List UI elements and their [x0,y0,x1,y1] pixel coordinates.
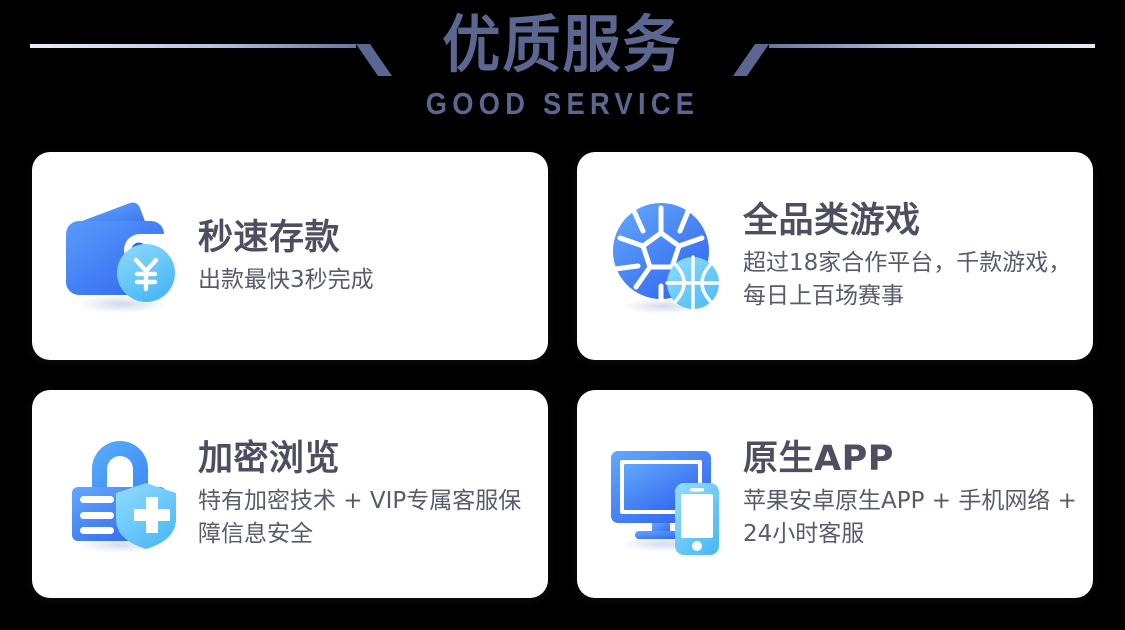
page-subtitle: GOOD SERVICE [68,81,1058,121]
card-description: 出款最快3秒完成 [198,264,528,297]
feature-card-encryption[interactable]: 加密浏览 特有加密技术 + VIP专属客服保障信息安全 [32,390,548,598]
card-heading: 加密浏览 [198,437,534,481]
soccer-basketball-icon [603,193,729,319]
lock-shield-icon [58,431,184,557]
header-title-block: 优质服务 GOOD SERVICE [0,0,1125,121]
card-heading: 原生APP [743,437,1079,481]
card-text-block: 原生APP 苹果安卓原生APP + 手机网络 + 24小时客服 [743,437,1079,551]
monitor-phone-icon [603,431,729,557]
card-text-block: 秒速存款 出款最快3秒完成 [198,216,534,297]
page-header: 优质服务 GOOD SERVICE [0,0,1125,140]
card-description: 特有加密技术 + VIP专属客服保障信息安全 [198,485,534,551]
page-title: 优质服务 [34,0,1092,81]
feature-card-deposit[interactable]: 秒速存款 出款最快3秒完成 [32,152,548,360]
card-text-block: 全品类游戏 超过18家合作平台，千款游戏，每日上百场赛事 [743,199,1079,313]
card-heading: 秒速存款 [198,216,534,260]
card-text-block: 加密浏览 特有加密技术 + VIP专属客服保障信息安全 [198,437,534,551]
card-heading: 全品类游戏 [743,199,1079,243]
feature-card-grid: 秒速存款 出款最快3秒完成 [32,152,1093,598]
card-description: 苹果安卓原生APP + 手机网络 + 24小时客服 [743,485,1079,551]
card-description: 超过18家合作平台，千款游戏，每日上百场赛事 [743,247,1079,313]
feature-card-games[interactable]: 全品类游戏 超过18家合作平台，千款游戏，每日上百场赛事 [577,152,1093,360]
feature-card-native-app[interactable]: 原生APP 苹果安卓原生APP + 手机网络 + 24小时客服 [577,390,1093,598]
wallet-yen-icon [58,193,184,319]
